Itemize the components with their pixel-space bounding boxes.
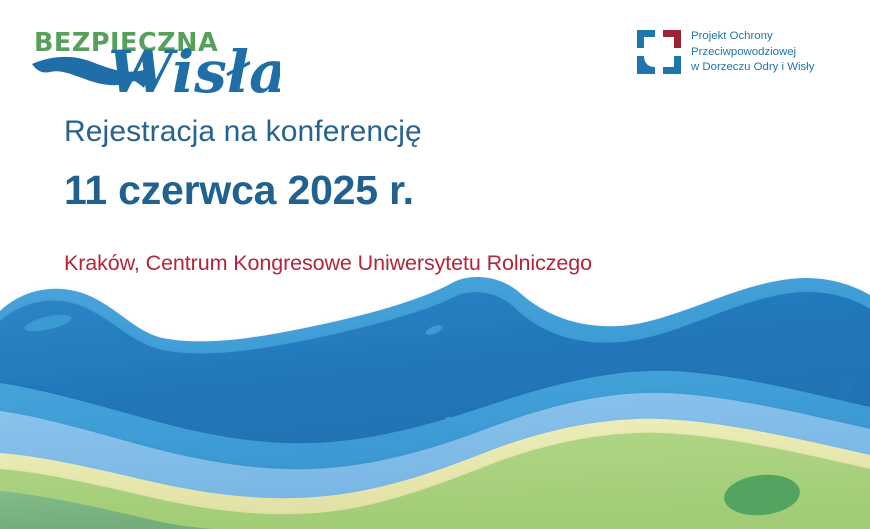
event-date: 11 czerwca 2025 r. xyxy=(64,160,824,220)
bezpieczna-wisla-logo: BEZPIECZNA Wisła xyxy=(30,24,280,96)
project-logo-line-3: w Dorzeczu Odry i Wisły xyxy=(691,60,814,76)
project-logo-line-2: Przeciwpowodziowej xyxy=(691,45,814,61)
event-info-block: Rejestracja na konferencję 11 czerwca 20… xyxy=(64,110,824,278)
project-logo: Projekt Ochrony Przeciwpowodziowej w Dor… xyxy=(637,29,814,76)
odra-wisla-cross-mark-icon xyxy=(637,30,681,74)
page-title: Rejestracja na konferencję xyxy=(64,110,824,154)
conference-registration-banner: BEZPIECZNA Wisła Projekt Ochrony Przeciw… xyxy=(0,0,870,529)
layered-river-waves-artwork xyxy=(0,277,870,529)
brand-logo-svg: BEZPIECZNA Wisła xyxy=(30,24,280,96)
brand-script-text: Wisła xyxy=(108,38,280,96)
project-logo-line-1: Projekt Ochrony xyxy=(691,29,814,45)
event-venue: Kraków, Centrum Kongresowe Uniwersytetu … xyxy=(64,248,824,278)
project-logo-text: Projekt Ochrony Przeciwpowodziowej w Dor… xyxy=(691,29,814,76)
